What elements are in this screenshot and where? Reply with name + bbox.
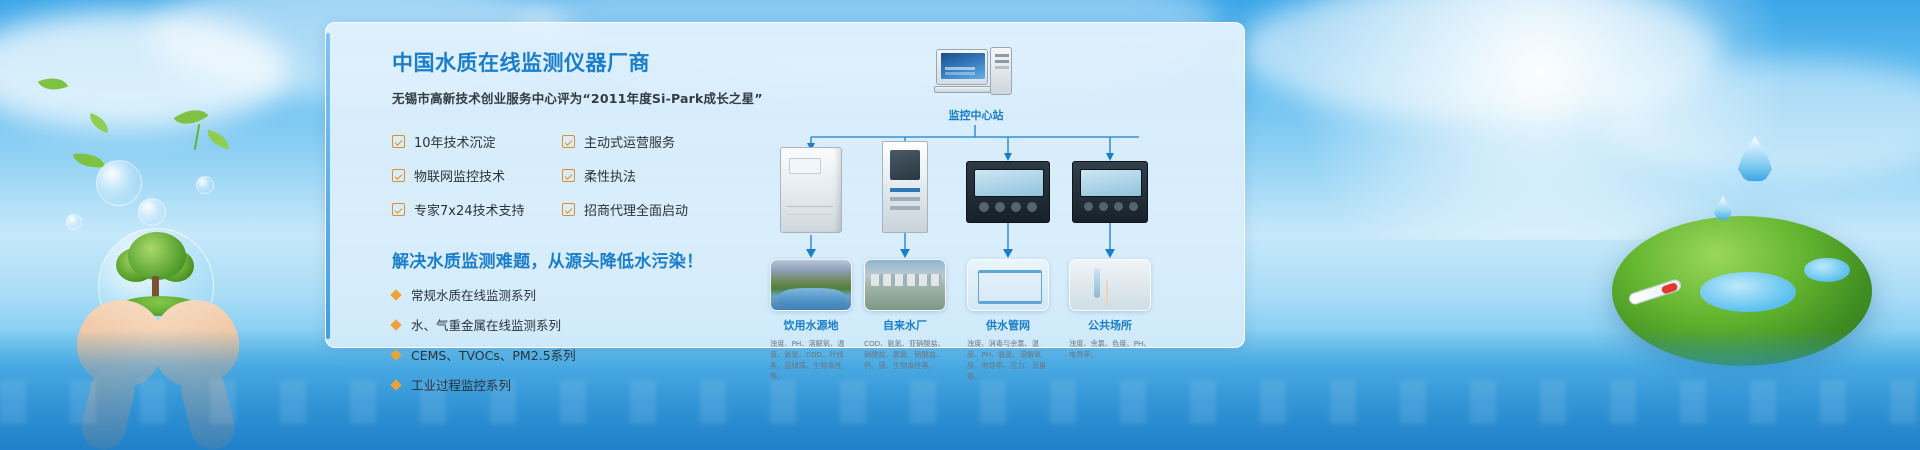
bubble bbox=[138, 198, 166, 226]
feature-label: 招商代理全面启动 bbox=[584, 200, 688, 219]
monitor-icon bbox=[936, 49, 988, 85]
list-item-label: 工业过程监控系列 bbox=[411, 375, 511, 394]
scene-title: 公共场所 bbox=[1069, 317, 1151, 333]
island-lake bbox=[1700, 272, 1796, 312]
leaf-icon bbox=[205, 130, 232, 150]
sea-shine bbox=[0, 380, 1920, 424]
scene-title: 自来水厂 bbox=[864, 317, 946, 333]
scene-photo-drinking-water-source bbox=[770, 259, 852, 311]
monitor-screen bbox=[941, 53, 985, 79]
checkbox-checked-icon bbox=[562, 169, 575, 182]
system-architecture-diagram: 监控中心站 bbox=[756, 37, 1226, 349]
diamond-bullet-icon bbox=[390, 319, 401, 330]
bubble bbox=[96, 160, 142, 206]
bubble bbox=[66, 214, 82, 230]
feature-item[interactable]: 专家7x24技术支持 bbox=[392, 200, 562, 219]
product-series-list: 常规水质在线监测系列 水、气重金属在线监测系列 CEMS、TVOCs、PM2.5… bbox=[392, 285, 742, 394]
scene-card[interactable]: 饮用水源地 浊度、PH、溶解氧、温度、氨氮、COD、叶绿素、蓝绿藻、生物毒性等。 bbox=[770, 259, 852, 383]
feature-label: 专家7x24技术支持 bbox=[414, 200, 525, 219]
device-water-analyzer-cabinet[interactable] bbox=[780, 147, 842, 233]
list-item[interactable]: 常规水质在线监测系列 bbox=[392, 285, 742, 304]
feature-item[interactable]: 10年技术沉淀 bbox=[392, 132, 562, 151]
list-item-label: CEMS、TVOCs、PM2.5系列 bbox=[411, 345, 576, 364]
monitoring-center-label: 监控中心站 bbox=[906, 107, 1046, 123]
island-lake bbox=[1804, 258, 1850, 282]
scene-card[interactable]: 自来水厂 COD、氨氮、亚硝酸盐、硝酸盐、氯氮、硝酸盐、钙、镁、生物毒性等。 bbox=[864, 259, 946, 371]
diamond-bullet-icon bbox=[390, 289, 401, 300]
list-item[interactable]: 水、气重金属在线监测系列 bbox=[392, 315, 742, 334]
checkbox-checked-icon bbox=[562, 203, 575, 216]
scene-parameters: 浊度、PH、溶解氧、温度、氨氮、COD、叶绿素、蓝绿藻、生物毒性等。 bbox=[770, 338, 856, 383]
device-controller-small[interactable] bbox=[1072, 161, 1148, 223]
list-item-label: 常规水质在线监测系列 bbox=[411, 285, 536, 304]
page-subtitle: 无锡市高新技术创业服务中心评为“2011年度Si-Park成长之星” bbox=[392, 88, 742, 107]
diamond-bullet-icon bbox=[390, 349, 401, 360]
checkbox-checked-icon bbox=[392, 203, 405, 216]
device-controller-large[interactable] bbox=[966, 161, 1050, 223]
feature-label: 10年技术沉淀 bbox=[414, 132, 496, 151]
hero-text-column: 中国水质在线监测仪器厂商 无锡市高新技术创业服务中心评为“2011年度Si-Pa… bbox=[392, 47, 742, 394]
feature-label: 柔性执法 bbox=[584, 166, 636, 185]
feature-item[interactable]: 招商代理全面启动 bbox=[562, 200, 732, 219]
checkbox-checked-icon bbox=[392, 169, 405, 182]
scene-photo-public-place bbox=[1069, 259, 1151, 311]
scene-title: 供水管网 bbox=[967, 317, 1049, 333]
scene-card[interactable]: 公共场所 浊度、余氯、色度、PH、电导率。 bbox=[1069, 259, 1151, 360]
scene-card[interactable]: 供水管网 浊度、消毒与余氯、温度、PH、氨氮、溶解氧度、电导率、压力、流量等。 bbox=[967, 259, 1049, 383]
hero-card: 中国水质在线监测仪器厂商 无锡市高新技术创业服务中心评为“2011年度Si-Pa… bbox=[325, 22, 1245, 348]
page-title: 中国水质在线监测仪器厂商 bbox=[392, 47, 742, 77]
list-item-label: 水、气重金属在线监测系列 bbox=[411, 315, 561, 334]
bubble bbox=[196, 176, 214, 194]
section-headline: 解决水质监测难题，从源头降低水污染！ bbox=[392, 247, 742, 272]
monitoring-center-computer-icon bbox=[936, 47, 1014, 99]
pc-tower-icon bbox=[990, 47, 1012, 95]
scene-photo-water-supply-network bbox=[967, 259, 1049, 311]
scene-title: 饮用水源地 bbox=[770, 317, 852, 333]
scene-photo-water-plant bbox=[864, 259, 946, 311]
feature-label: 主动式运营服务 bbox=[584, 132, 675, 151]
keyboard-icon bbox=[934, 86, 992, 93]
instrument-row bbox=[756, 141, 1226, 233]
checkbox-checked-icon bbox=[392, 135, 405, 148]
sprout-stem bbox=[194, 124, 200, 150]
list-item[interactable]: 工业过程监控系列 bbox=[392, 375, 742, 394]
scene-parameters: COD、氨氮、亚硝酸盐、硝酸盐、氯氮、硝酸盐、钙、镁、生物毒性等。 bbox=[864, 338, 950, 371]
feature-item[interactable]: 主动式运营服务 bbox=[562, 132, 732, 151]
feature-item[interactable]: 柔性执法 bbox=[562, 166, 732, 185]
feature-checklist: 10年技术沉淀 主动式运营服务 物联网监控技术 柔性执法 专家7x24技术支持 … bbox=[392, 132, 742, 219]
scene-parameters: 浊度、消毒与余氯、温度、PH、氨氮、溶解氧度、电导率、压力、流量等。 bbox=[967, 338, 1053, 383]
list-item[interactable]: CEMS、TVOCs、PM2.5系列 bbox=[392, 345, 742, 364]
card-accent-bar bbox=[326, 33, 330, 339]
tree-foliage bbox=[128, 232, 186, 280]
diamond-bullet-icon bbox=[390, 379, 401, 390]
checkbox-checked-icon bbox=[562, 135, 575, 148]
feature-item[interactable]: 物联网监控技术 bbox=[392, 166, 562, 185]
device-online-monitor-rack[interactable] bbox=[882, 141, 928, 233]
feature-label: 物联网监控技术 bbox=[414, 166, 505, 185]
scene-parameters: 浊度、余氯、色度、PH、电导率。 bbox=[1069, 338, 1155, 360]
